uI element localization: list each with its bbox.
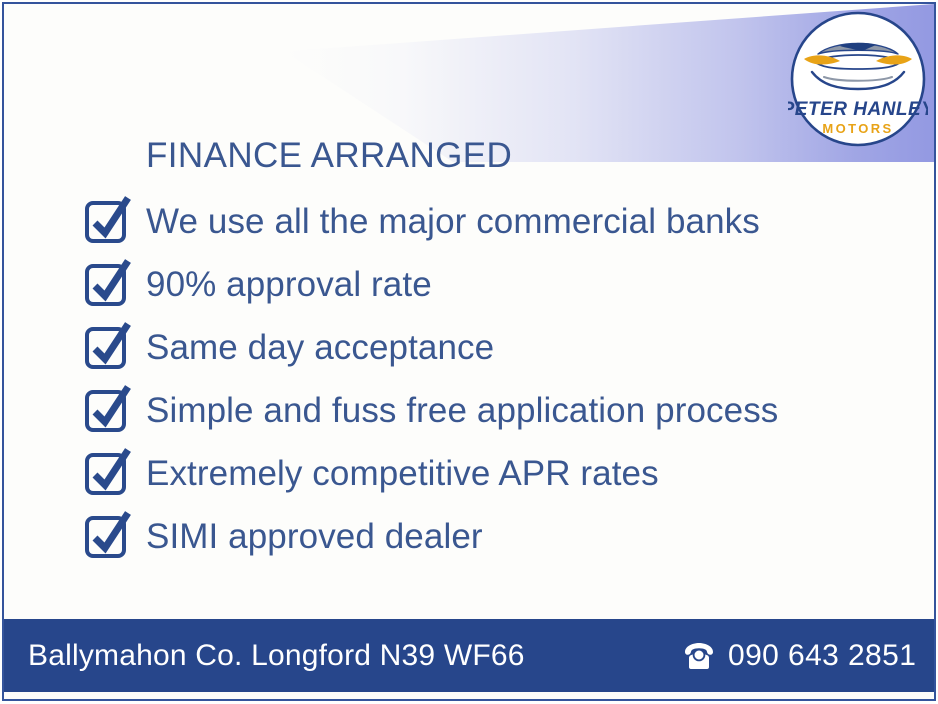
checked-checkbox-icon (82, 510, 136, 562)
peter-hanley-motors-logo: PETER HANLEY MOTORS (788, 9, 928, 149)
checked-checkbox-icon (82, 447, 136, 499)
list-item: Simple and fuss free application process (82, 379, 778, 442)
list-item: 90% approval rate (82, 253, 778, 316)
list-item-label: 90% approval rate (146, 267, 432, 302)
telephone-icon (682, 641, 716, 671)
finance-poster: PETER HANLEY MOTORS FINANCE ARRANGED We … (0, 0, 938, 704)
logo-brand-text: PETER HANLEY (788, 99, 928, 120)
list-item-label: SIMI approved dealer (146, 519, 483, 554)
footer-phone-group[interactable]: 090 643 2851 (682, 639, 916, 673)
footer-address: Ballymahon Co. Longford N39 WF66 (28, 639, 525, 673)
list-item-label: We use all the major commercial banks (146, 204, 760, 239)
list-item: Same day acceptance (82, 316, 778, 379)
list-item-label: Extremely competitive APR rates (146, 456, 659, 491)
footer-phone-number: 090 643 2851 (728, 639, 916, 673)
poster-canvas: PETER HANLEY MOTORS FINANCE ARRANGED We … (4, 4, 934, 699)
checked-checkbox-icon (82, 258, 136, 310)
list-item-label: Simple and fuss free application process (146, 393, 778, 428)
checked-checkbox-icon (82, 384, 136, 436)
benefits-checklist: We use all the major commercial banks 90… (82, 190, 778, 568)
checked-checkbox-icon (82, 321, 136, 373)
list-item-label: Same day acceptance (146, 330, 494, 365)
page-title: FINANCE ARRANGED (146, 136, 512, 176)
list-item: Extremely competitive APR rates (82, 442, 778, 505)
logo-sub-text: MOTORS (822, 121, 893, 136)
contact-footer-bar: Ballymahon Co. Longford N39 WF66 090 643… (4, 619, 934, 692)
list-item: We use all the major commercial banks (82, 190, 778, 253)
checked-checkbox-icon (82, 195, 136, 247)
list-item: SIMI approved dealer (82, 505, 778, 568)
